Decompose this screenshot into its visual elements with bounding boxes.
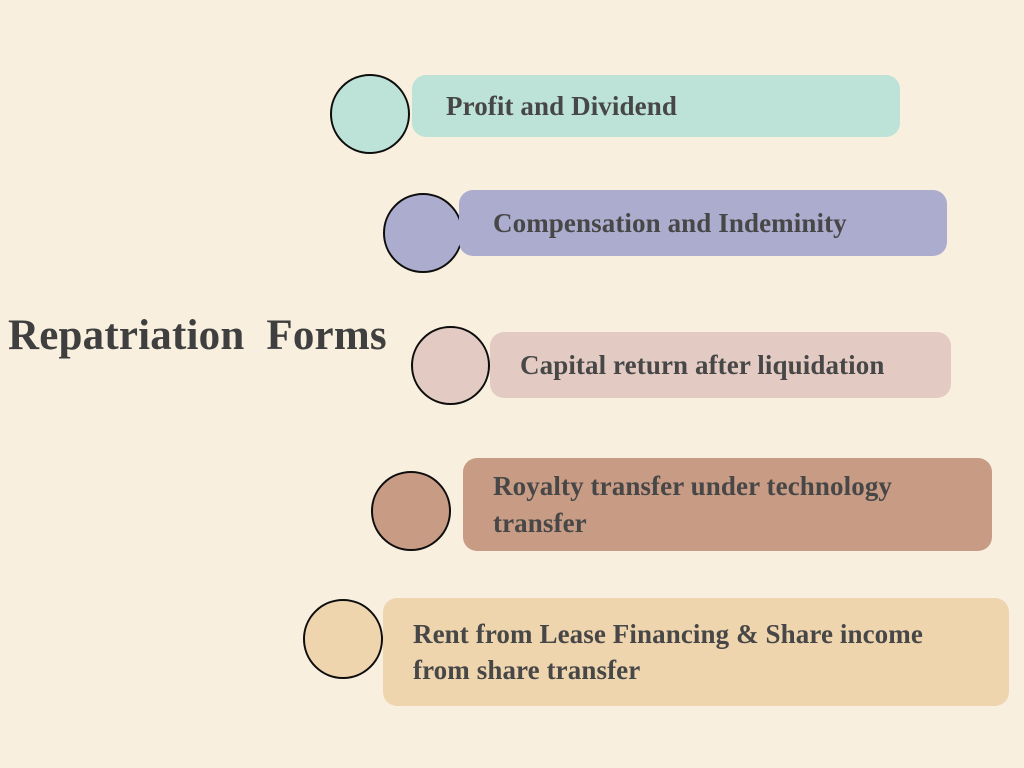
node-bar-5[interactable]: Rent from Lease Financing & Share income… <box>383 598 1009 706</box>
node-label-2: Compensation and Indeminity <box>459 205 859 241</box>
node-label-3: Capital return after liquidation <box>490 347 896 383</box>
node-bar-1[interactable]: Profit and Dividend <box>412 75 900 137</box>
node-bar-3[interactable]: Capital return after liquidation <box>490 332 951 398</box>
node-bar-2[interactable]: Compensation and Indeminity <box>459 190 947 256</box>
node-circle-5[interactable] <box>303 599 383 679</box>
node-label-4: Royalty transfer under technology transf… <box>463 468 904 541</box>
node-circle-2[interactable] <box>383 193 463 273</box>
slide-canvas: Repatriation Forms Profit and Dividend C… <box>0 0 1024 768</box>
node-bar-4[interactable]: Royalty transfer under technology transf… <box>463 458 992 551</box>
node-label-5: Rent from Lease Financing & Share income… <box>383 616 935 689</box>
node-label-1: Profit and Dividend <box>412 88 689 124</box>
node-circle-1[interactable] <box>330 74 410 154</box>
node-circle-4[interactable] <box>371 471 451 551</box>
node-circle-3[interactable] <box>411 326 490 405</box>
page-title: Repatriation Forms <box>8 312 408 360</box>
